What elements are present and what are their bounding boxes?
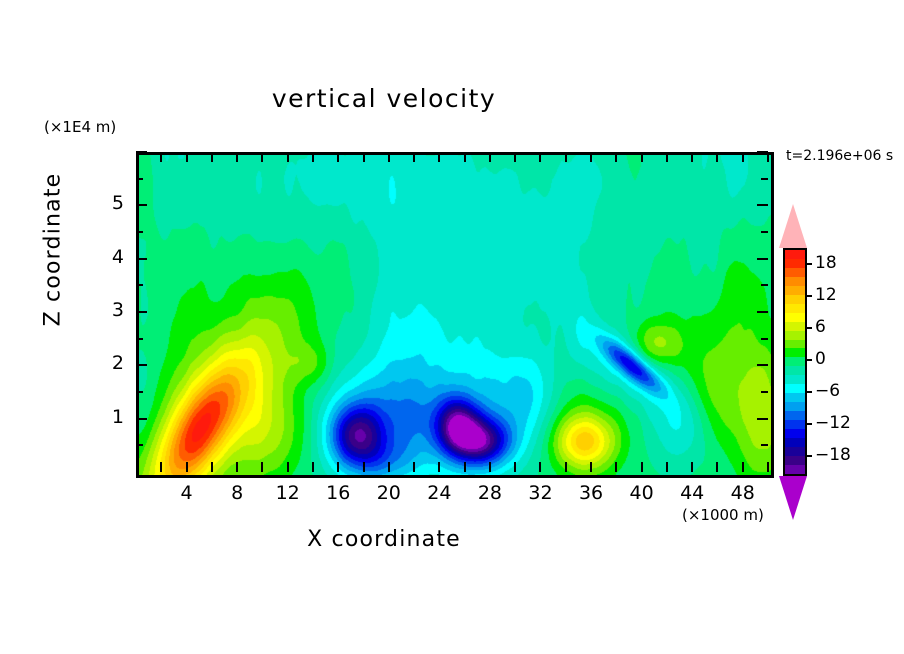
x-tick (438, 462, 440, 472)
y-tick (136, 391, 143, 393)
x-tick (666, 462, 668, 472)
colorbar-tick-label: 0 (815, 349, 826, 369)
x-tick (363, 462, 365, 472)
x-tick-top (413, 152, 415, 162)
x-tick (287, 462, 289, 472)
y-tick-right (757, 418, 768, 420)
colorbar-band (785, 384, 805, 393)
colorbar-band (785, 393, 805, 402)
y-tick (136, 338, 143, 340)
x-tick (514, 462, 516, 472)
colorbar-tick (805, 359, 812, 361)
y-tick-right (761, 444, 768, 446)
x-tick-top (464, 152, 466, 162)
colorbar-band (785, 456, 805, 465)
y-tick-right (761, 284, 768, 286)
x-tick (767, 462, 769, 472)
x-tick-top (666, 152, 668, 162)
x-tick-top (337, 152, 339, 162)
y-tick-right (757, 258, 768, 260)
x-tick-top (514, 152, 516, 162)
x-axis-unit-label: (×1000 m) (682, 506, 764, 524)
x-tick (337, 462, 339, 472)
colorbar-tick-label: −18 (815, 445, 851, 465)
y-tick (136, 284, 143, 286)
x-tick (539, 462, 541, 472)
y-tick-right (757, 311, 768, 313)
x-tick (615, 462, 617, 472)
colorbar-band (785, 277, 805, 286)
x-tick (388, 462, 390, 472)
x-tick (565, 462, 567, 472)
y-tick (136, 204, 147, 206)
y-tick (136, 258, 147, 260)
colorbar-tick-label: −12 (815, 413, 851, 433)
x-tick-top (742, 152, 744, 162)
colorbar-band (785, 259, 805, 268)
colorbar-band (785, 402, 805, 411)
colorbar-band (785, 447, 805, 456)
colorbar-tick-label: 18 (815, 253, 837, 273)
x-tick-top (767, 152, 769, 162)
x-tick-top (261, 152, 263, 162)
x-tick-top (388, 152, 390, 162)
colorbar-tick (805, 423, 812, 425)
y-tick-right (757, 204, 768, 206)
colorbar-band (785, 438, 805, 447)
x-tick-top (363, 152, 365, 162)
x-tick-top (160, 152, 162, 162)
y-tick-right (757, 151, 768, 153)
x-tick (489, 462, 491, 472)
colorbar-under-cap (779, 476, 807, 520)
x-tick-top (691, 152, 693, 162)
x-tick (413, 462, 415, 472)
colorbar-band (785, 366, 805, 375)
x-tick-top (186, 152, 188, 162)
x-tick (211, 462, 213, 472)
y-tick-label: 5 (84, 192, 124, 214)
y-tick-right (757, 364, 768, 366)
y-tick-label: 3 (84, 299, 124, 321)
y-tick (136, 178, 143, 180)
colorbar-tick (805, 263, 812, 265)
x-tick-top (211, 152, 213, 162)
colorbar-tick-label: −6 (815, 381, 840, 401)
y-tick-label: 1 (84, 406, 124, 428)
colorbar-band (785, 340, 805, 349)
x-tick (691, 462, 693, 472)
colorbar-band (785, 268, 805, 277)
x-tick-top (641, 152, 643, 162)
colorbar-band (785, 322, 805, 331)
time-annotation: t=2.196e+06 s (786, 148, 893, 164)
colorbar-tick (805, 455, 812, 457)
colorbar-band (785, 429, 805, 438)
x-axis-title: X coordinate (0, 527, 768, 552)
y-tick (136, 364, 147, 366)
x-tick (464, 462, 466, 472)
colorbar-over-cap (779, 204, 807, 248)
colorbar-tick (805, 295, 812, 297)
y-tick (136, 444, 143, 446)
x-tick (261, 462, 263, 472)
y-tick (136, 151, 147, 153)
y-tick (136, 418, 147, 420)
colorbar-band (785, 250, 805, 259)
colorbar-band (785, 375, 805, 384)
y-tick-right (761, 338, 768, 340)
colorbar-band (785, 357, 805, 366)
plot-area[interactable] (136, 152, 774, 478)
x-tick (590, 462, 592, 472)
x-tick-top (438, 152, 440, 162)
colorbar[interactable] (783, 248, 807, 476)
colorbar-band (785, 313, 805, 322)
x-tick-top (489, 152, 491, 162)
contour-plot-figure: vertical velocity (×1E4 m) t=2.196e+06 s… (0, 0, 904, 654)
y-tick-right (761, 231, 768, 233)
x-tick-top (565, 152, 567, 162)
x-tick (236, 462, 238, 472)
x-tick-top (539, 152, 541, 162)
x-tick-top (287, 152, 289, 162)
colorbar-band (785, 286, 805, 295)
colorbar-tick-label: 12 (815, 285, 837, 305)
colorbar-band (785, 295, 805, 304)
y-tick (136, 231, 143, 233)
x-tick-top (312, 152, 314, 162)
vertical-velocity-field (139, 155, 771, 475)
x-tick-top (590, 152, 592, 162)
x-tick-top (615, 152, 617, 162)
y-tick-right (761, 178, 768, 180)
y-tick-label: 2 (84, 352, 124, 374)
y-tick (136, 311, 147, 313)
x-tick (186, 462, 188, 472)
y-axis-title: Z coordinate (41, 170, 66, 330)
colorbar-band (785, 411, 805, 420)
colorbar-tick (805, 391, 812, 393)
page-title: vertical velocity (0, 84, 768, 113)
colorbar-band (785, 304, 805, 313)
z-axis-unit-label: (×1E4 m) (44, 118, 116, 136)
colorbar-band (785, 465, 805, 474)
x-tick (312, 462, 314, 472)
y-tick-right (761, 391, 768, 393)
y-tick-label: 4 (84, 246, 124, 268)
colorbar-band (785, 420, 805, 429)
x-tick-top (236, 152, 238, 162)
x-tick-label: 48 (713, 482, 773, 504)
colorbar-tick-label: 6 (815, 317, 826, 337)
x-tick (716, 462, 718, 472)
colorbar-tick (805, 327, 812, 329)
x-tick (160, 462, 162, 472)
x-tick (742, 462, 744, 472)
x-tick (641, 462, 643, 472)
x-tick-top (716, 152, 718, 162)
colorbar-band (785, 331, 805, 340)
colorbar-band (785, 348, 805, 357)
